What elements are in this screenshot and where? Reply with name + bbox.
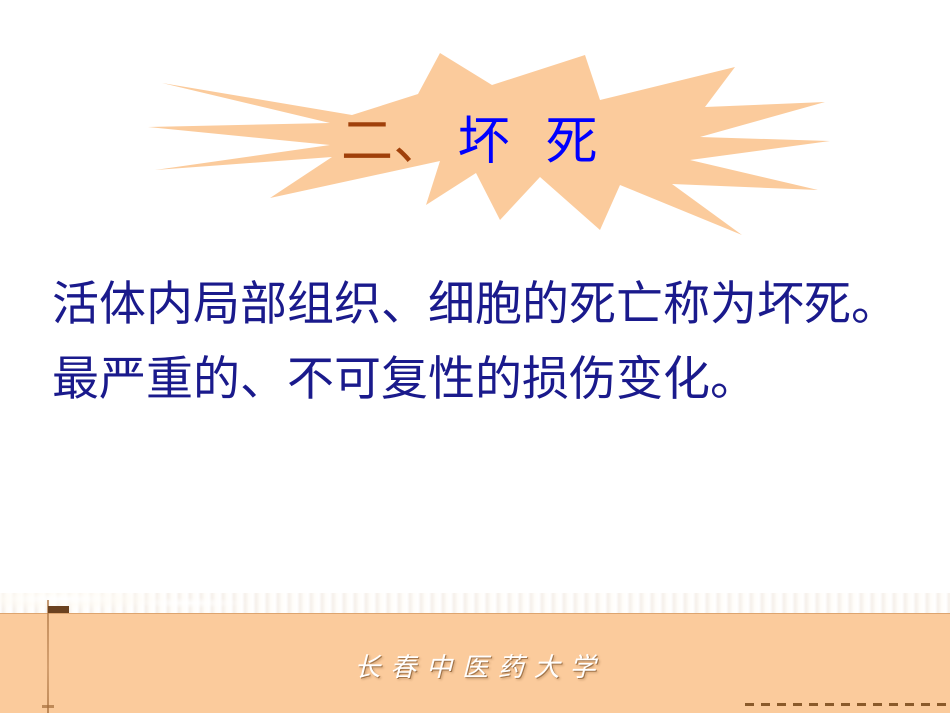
slide-footer: 长春中医药大学 xyxy=(0,593,950,713)
wood-grain-strip xyxy=(0,593,950,613)
body-text-block: 活体内局部组织、细胞的死亡称为坏死。 最严重的、不可复性的损伤变化。 xyxy=(52,282,912,404)
dashed-accent-rule xyxy=(745,703,950,706)
presentation-slide: 二、 坏 死 活体内局部组织、细胞的死亡称为坏死。 最严重的、不可复性的损伤变化… xyxy=(0,0,950,713)
body-line-1: 活体内局部组织、细胞的死亡称为坏死。 xyxy=(52,282,912,329)
brown-accent-tab xyxy=(48,606,69,613)
title-main-label: 坏 死 xyxy=(446,117,609,169)
title-text-wrap: 二、 坏 死 xyxy=(0,45,950,240)
title-index-label: 二、 xyxy=(341,117,446,169)
footer-divider-line xyxy=(0,613,950,614)
institution-name: 长春中医药大学 xyxy=(0,655,950,681)
body-line-2: 最严重的、不可复性的损伤变化。 xyxy=(52,357,912,404)
title-banner: 二、 坏 死 xyxy=(0,45,950,240)
vertical-rule-base xyxy=(42,705,54,708)
wood-highlight-secondary xyxy=(120,595,300,611)
